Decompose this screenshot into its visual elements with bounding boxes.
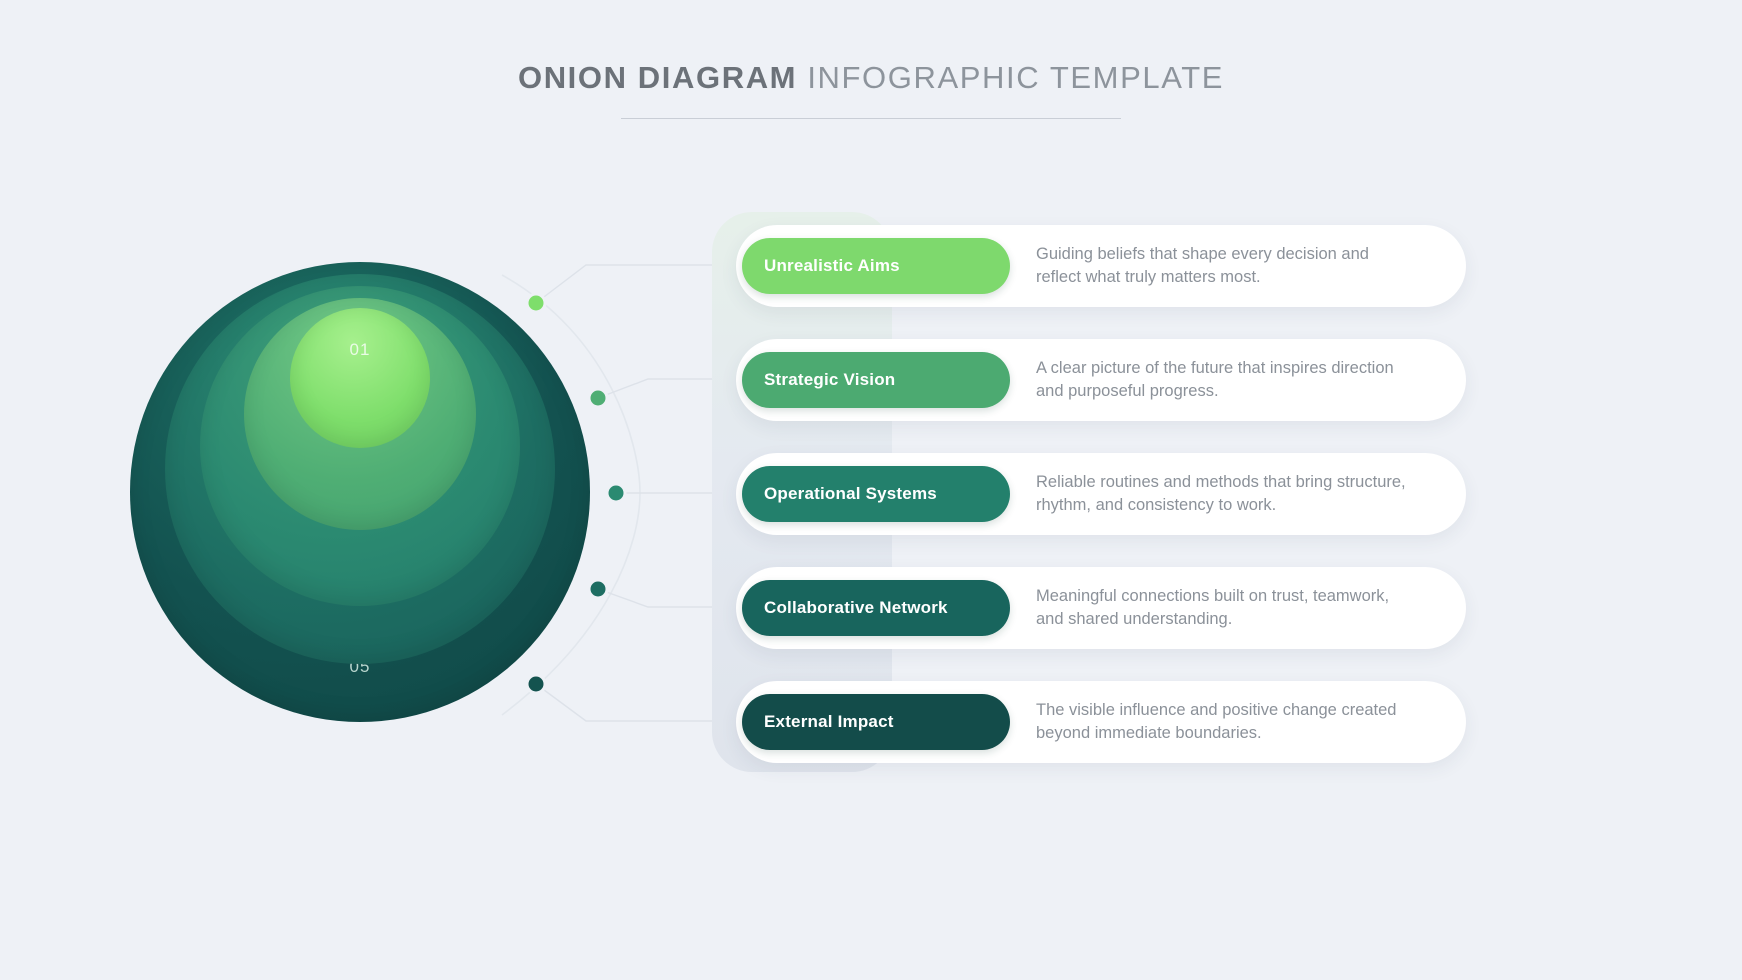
item-card[interactable]: Collaborative NetworkMeaningful connecti… [736,567,1466,649]
connector-dot-4[interactable] [589,580,607,598]
connector-line-1 [536,265,712,303]
onion-ring-01[interactable] [290,308,430,448]
item-description: The visible influence and positive chang… [1036,699,1416,745]
item-label-pill[interactable]: Unrealistic Aims [742,238,1010,294]
item-description: Meaningful connections built on trust, t… [1036,585,1416,631]
connector-line-4 [598,589,712,607]
item-description: Reliable routines and methods that bring… [1036,471,1416,517]
connector-dot-5[interactable] [527,675,545,693]
item-label-text: Unrealistic Aims [764,256,900,276]
page-title: ONION DIAGRAM INFOGRAPHIC TEMPLATE [0,60,1742,119]
item-card[interactable]: Unrealistic AimsGuiding beliefs that sha… [736,225,1466,307]
item-card[interactable]: Operational SystemsReliable routines and… [736,453,1466,535]
onion-ring-label-01: 01 [350,340,371,360]
connector-dot-1[interactable] [527,294,545,312]
connector-dot-3[interactable] [607,484,625,502]
item-label-text: Operational Systems [764,484,937,504]
item-card[interactable]: External ImpactThe visible influence and… [736,681,1466,763]
item-label-pill[interactable]: External Impact [742,694,1010,750]
title-divider [621,118,1121,119]
item-label-text: Collaborative Network [764,598,948,618]
item-label-text: Strategic Vision [764,370,895,390]
item-description: Guiding beliefs that shape every decisio… [1036,243,1416,289]
connector-dot-2[interactable] [589,389,607,407]
item-label-text: External Impact [764,712,894,732]
connector-graphic [480,215,740,775]
item-label-pill[interactable]: Operational Systems [742,466,1010,522]
connector-line-5 [536,684,712,721]
item-card-list: Unrealistic AimsGuiding beliefs that sha… [736,225,1466,795]
title-rest: INFOGRAPHIC TEMPLATE [797,60,1224,95]
title-strong: ONION DIAGRAM [518,60,797,95]
item-card[interactable]: Strategic VisionA clear picture of the f… [736,339,1466,421]
item-description: A clear picture of the future that inspi… [1036,357,1416,403]
item-label-pill[interactable]: Strategic Vision [742,352,1010,408]
item-label-pill[interactable]: Collaborative Network [742,580,1010,636]
title-text: ONION DIAGRAM INFOGRAPHIC TEMPLATE [0,60,1742,96]
